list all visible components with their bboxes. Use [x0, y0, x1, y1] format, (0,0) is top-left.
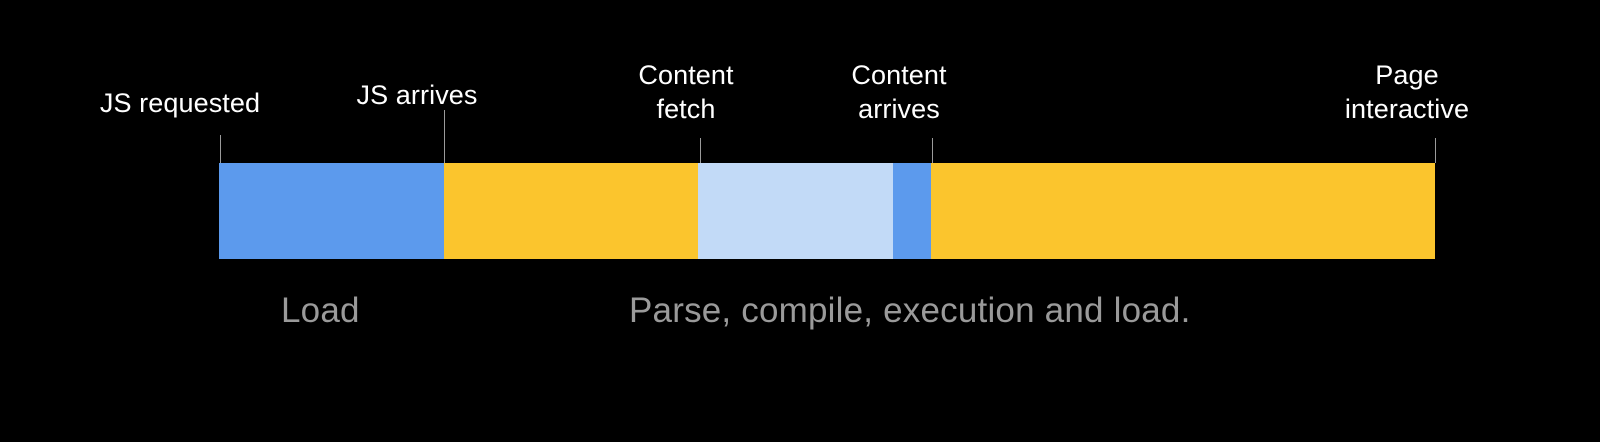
caption-load: Load	[281, 290, 360, 332]
label-js-arrives: JS arrives	[307, 78, 527, 112]
label-content-arrives: Content arrives	[799, 58, 999, 126]
tick-content-arrives	[932, 138, 933, 163]
label-content-fetch: Content fetch	[586, 58, 786, 126]
bar-segment-parse-compile-execute	[444, 163, 698, 259]
tick-js-requested	[220, 135, 221, 163]
timeline-bar	[219, 163, 1435, 259]
label-js-requested: JS requested	[50, 86, 310, 120]
caption-parse: Parse, compile, execution and load.	[629, 290, 1191, 332]
label-page-interactive: Page interactive	[1292, 58, 1522, 126]
bar-segment-content-fetch-wait	[698, 163, 893, 259]
timeline-diagram: JS requested JS arrives Content fetch Co…	[0, 0, 1600, 442]
bar-segment-load	[219, 163, 444, 259]
bar-segment-content-parse	[893, 163, 931, 259]
tick-js-arrives	[444, 110, 445, 163]
tick-content-fetch	[700, 138, 701, 163]
bar-segment-final-load	[931, 163, 1435, 259]
tick-page-interactive	[1435, 138, 1436, 163]
